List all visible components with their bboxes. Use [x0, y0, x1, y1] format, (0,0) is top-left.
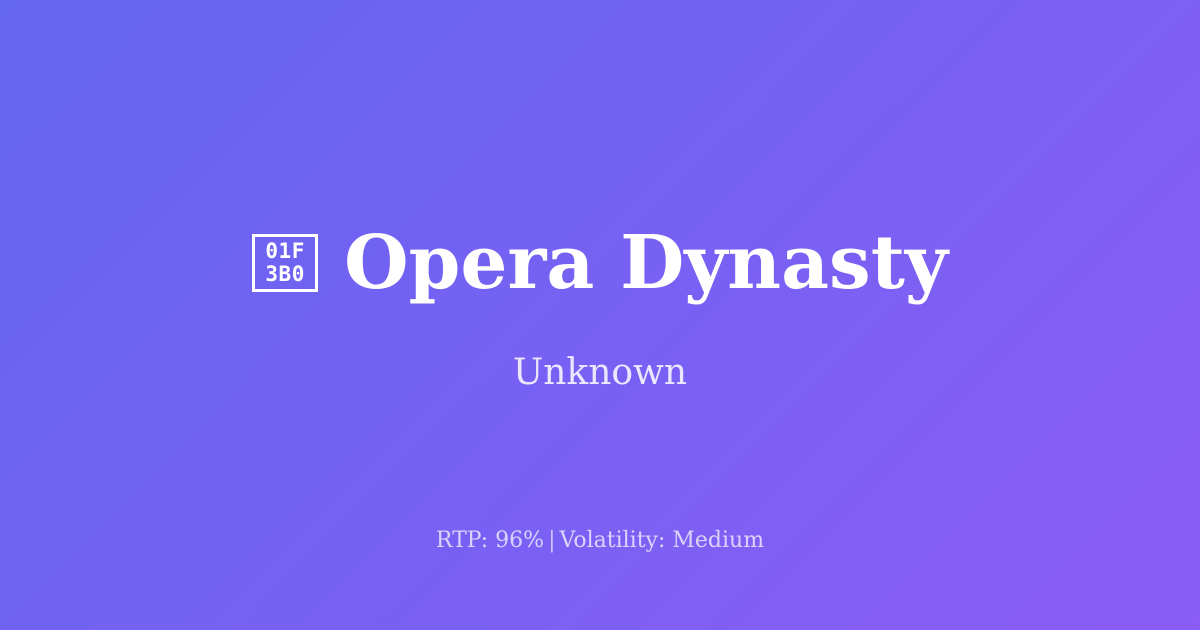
game-stats-line: RTP: 96%|Volatility: Medium	[0, 528, 1200, 553]
page-title: 01F 3B0 Opera Dynasty	[252, 226, 948, 300]
provider-subtitle: Unknown	[513, 352, 687, 393]
og-card: 01F 3B0 Opera Dynasty Unknown RTP: 96%|V…	[0, 0, 1200, 630]
slot-machine-icon-codepoint-lo: 3B0	[265, 263, 304, 286]
volatility-value: Volatility: Medium	[560, 528, 765, 553]
stats-separator: |	[544, 528, 559, 553]
hero-block: 01F 3B0 Opera Dynasty Unknown	[0, 226, 1200, 393]
rtp-value: RTP: 96%	[436, 528, 544, 553]
slot-machine-icon: 01F 3B0	[252, 234, 318, 292]
game-title-text: Opera Dynasty	[344, 226, 948, 300]
slot-machine-icon-codepoint-hi: 01F	[265, 240, 304, 263]
